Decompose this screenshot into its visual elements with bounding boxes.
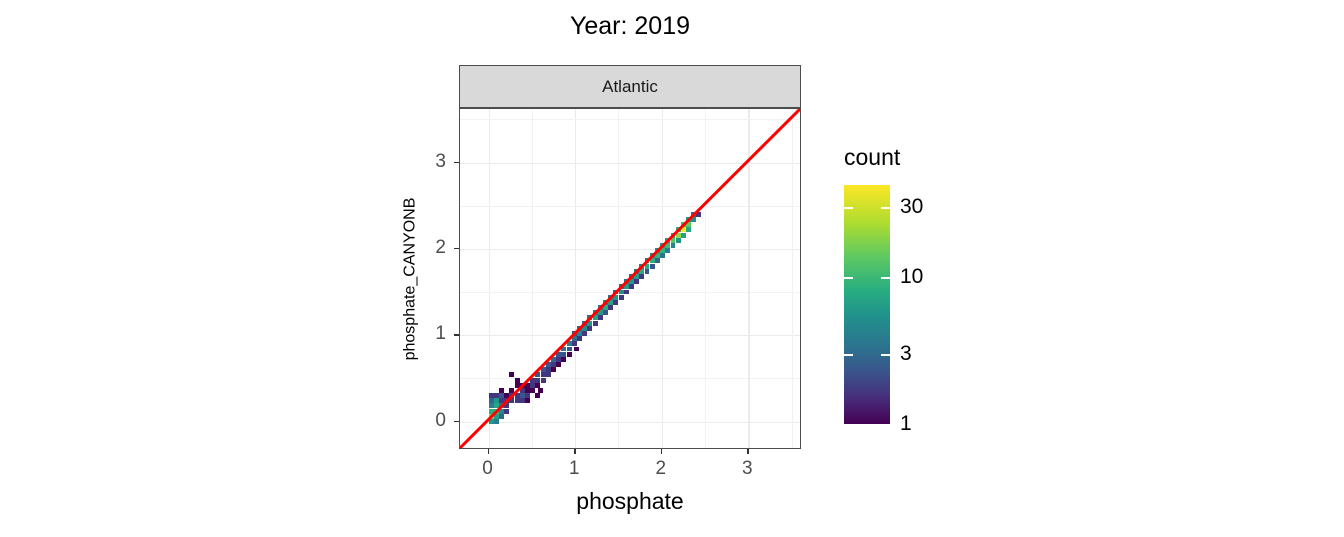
y-tick-label: 0: [0, 410, 446, 432]
axis-title-y-text: phosphate_CANYONB: [401, 197, 419, 360]
x-tick-mark: [747, 449, 749, 454]
axis-title-x: phosphate: [459, 488, 801, 515]
x-tick-label: 1: [569, 458, 580, 480]
legend-colorbar: [844, 185, 890, 424]
legend-tick-mark: [844, 207, 853, 209]
legend-tick-mark: [844, 424, 853, 426]
legend-tick-label: 3: [900, 342, 912, 366]
x-tick-mark: [488, 449, 490, 454]
x-tick-label: 3: [742, 458, 753, 480]
legend-tick-mark: [844, 277, 853, 279]
y-tick-mark: [454, 162, 459, 164]
legend-tick-mark: [844, 354, 853, 356]
legend-tick-mark: [881, 277, 890, 279]
panel-inner: [460, 109, 800, 448]
legend-tick-label: 10: [900, 265, 923, 289]
facet-strip-label: Atlantic: [602, 77, 658, 97]
legend-tick-mark: [881, 354, 890, 356]
ggplot-figure: Year: 2019 Atlantic 01230123 phosphate p…: [0, 0, 1344, 537]
page-title: Year: 2019: [459, 12, 801, 41]
y-tick-label: 1: [0, 323, 446, 345]
facet-strip-atlantic: Atlantic: [459, 65, 801, 108]
y-tick-mark: [454, 421, 459, 423]
x-tick-label: 2: [655, 458, 666, 480]
legend-tick-mark: [881, 207, 890, 209]
y-tick-mark: [454, 248, 459, 250]
legend-title: count: [844, 144, 900, 171]
x-tick-label: 0: [482, 458, 493, 480]
axis-title-y: phosphate_CANYONB: [392, 108, 428, 449]
legend-tick-label: 30: [900, 195, 923, 219]
legend-tick-label: 1: [900, 412, 912, 436]
y-tick-mark: [454, 334, 459, 336]
y-tick-label: 3: [0, 151, 446, 173]
identity-line: [460, 109, 800, 448]
y-tick-label: 2: [0, 237, 446, 259]
plot-panel: [459, 108, 801, 449]
reference-line: [460, 109, 800, 448]
legend-tick-mark: [881, 424, 890, 426]
x-tick-mark: [574, 449, 576, 454]
x-tick-mark: [661, 449, 663, 454]
